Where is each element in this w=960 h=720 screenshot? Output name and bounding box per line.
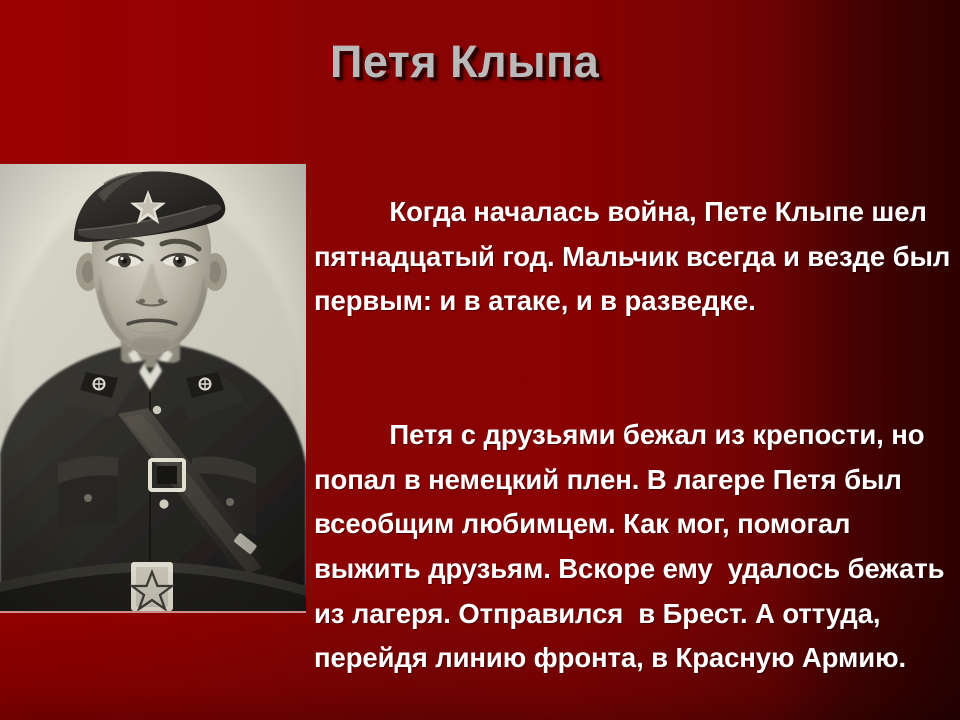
body-text: Когда началась война, Пете Клыпе шел пят… xyxy=(314,101,960,720)
soldier-portrait-illustration xyxy=(0,164,306,611)
paragraph-1: Когда началась война, Пете Клыпе шел пят… xyxy=(314,190,960,324)
presentation-slide: Петя Клыпа Когда началась война, Пете Кл… xyxy=(0,0,960,720)
paragraph-2: Петя с друзьями бежал из крепости, но по… xyxy=(314,413,960,681)
portrait-photo-frame xyxy=(0,164,306,611)
page-title: Петя Клыпа xyxy=(330,36,599,88)
portrait-photo xyxy=(0,164,306,611)
